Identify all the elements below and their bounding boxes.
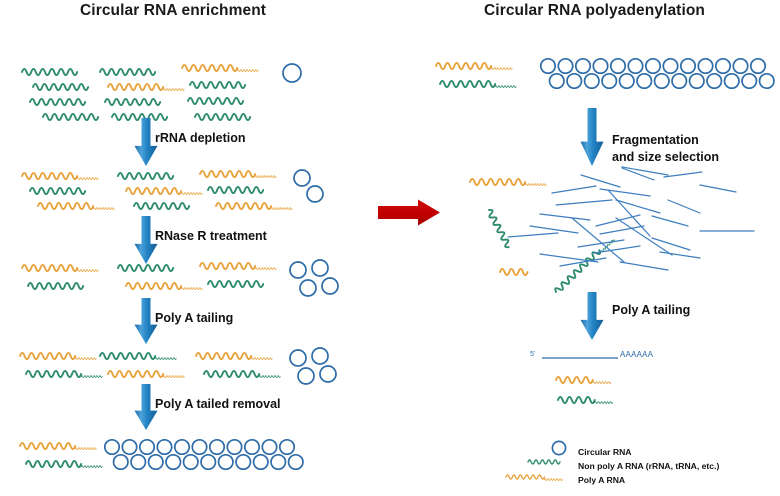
rna-body <box>118 173 173 179</box>
circular-rna-icon <box>620 74 634 88</box>
polya-tail <box>593 382 611 384</box>
polya-tail <box>237 70 258 72</box>
page-title-left: Circular RNA enrichment <box>80 2 266 20</box>
polya-tail <box>491 68 512 70</box>
rna-body <box>556 377 593 383</box>
rna-fragment <box>622 168 654 180</box>
circular-rna-icon <box>320 366 336 382</box>
polya-tail <box>525 184 546 186</box>
circular-rna-icon <box>707 74 721 88</box>
polya-rna-icon <box>500 269 528 275</box>
polya-rna-icon <box>470 179 546 186</box>
rna-fragment <box>530 226 578 233</box>
legend-label-circular-rna: Circular RNA <box>578 447 631 457</box>
polya-tail-label: AAAAAA <box>620 350 653 359</box>
diagram-graphics <box>0 0 780 496</box>
polya-tail <box>271 208 292 210</box>
rna-body <box>43 114 98 120</box>
rna-body <box>100 353 155 359</box>
rna-fragment <box>600 189 650 196</box>
rna-body <box>118 265 173 271</box>
rna-fragment <box>594 246 640 253</box>
polya-tail <box>595 402 613 404</box>
circular-rna-icon <box>322 278 338 294</box>
rna-body <box>436 63 491 69</box>
circular-rna-icon <box>280 440 294 454</box>
non-polya-rna-icon <box>188 98 243 104</box>
circular-rna-icon <box>290 350 306 366</box>
polya-rna-icon <box>200 263 276 270</box>
circular-rna-icon <box>552 441 565 454</box>
rna-body <box>33 84 88 90</box>
non-polya-rna-icon <box>190 82 245 88</box>
rna-body <box>182 65 237 71</box>
circular-rna-icon <box>184 455 198 469</box>
circular-rna-icon <box>290 262 306 278</box>
circular-rna-icon <box>611 59 625 73</box>
polya-tail <box>251 358 272 360</box>
polya-rna-icon <box>22 173 98 180</box>
circular-rna-icon <box>131 455 145 469</box>
rna-fragment <box>668 200 700 213</box>
rna-body <box>204 371 259 377</box>
rna-fragment <box>556 200 612 205</box>
rna-body <box>38 203 93 209</box>
rna-body <box>558 397 595 403</box>
circular-rna-icon <box>558 59 572 73</box>
polya-rna-icon <box>20 443 96 450</box>
circular-rna-icon <box>681 59 695 73</box>
legend-label-polya-rna: Poly A RNA <box>578 475 625 485</box>
circular-rna-icon <box>760 74 774 88</box>
circular-rna-icon <box>312 348 328 364</box>
rna-body <box>126 283 181 289</box>
rna-body <box>528 460 560 464</box>
rna-body <box>126 188 181 194</box>
non-polya-rna-icon <box>554 236 615 295</box>
non-polya-rna-icon <box>43 114 98 120</box>
rna-fragment <box>664 172 702 177</box>
rna-fragment <box>600 226 644 234</box>
non-polya-rna-icon <box>204 371 280 378</box>
non-polya-rna-icon <box>33 84 88 90</box>
rna-body <box>500 269 528 275</box>
non-polya-rna-icon <box>100 69 155 75</box>
polya-rna-icon <box>38 203 114 210</box>
non-polya-rna-icon <box>28 283 83 289</box>
rna-body <box>30 188 85 194</box>
rna-fragment <box>652 216 688 226</box>
polya-tail <box>155 358 176 360</box>
polya-tail <box>259 376 280 378</box>
polya-rna-icon <box>200 171 276 178</box>
rna-body <box>20 353 75 359</box>
rna-fragment <box>620 262 668 270</box>
polya-tail <box>255 268 276 270</box>
step-label-polya-tailing-left: Poly A tailing <box>155 311 233 326</box>
non-polya-rna-icon <box>26 371 102 378</box>
rna-body <box>554 248 601 294</box>
circular-rna-icon <box>283 64 301 82</box>
circular-rna-icon <box>140 440 154 454</box>
circular-rna-icon <box>628 59 642 73</box>
step-label-polya-tailed-removal: Poly A tailed removal <box>155 397 281 412</box>
polya-rna-icon <box>20 353 96 360</box>
polya-tail <box>77 178 98 180</box>
rna-body <box>108 84 163 90</box>
circular-rna-icon <box>307 186 323 202</box>
polya-rna-icon <box>22 265 98 272</box>
non-polya-rna-icon <box>105 99 160 105</box>
rna-fragment <box>560 258 606 266</box>
step-label-fragmentation-line2: and size selection <box>612 149 719 165</box>
diagram-canvas: Circular RNA enrichment Circular RNA pol… <box>0 0 780 496</box>
non-polya-rna-icon <box>195 114 250 120</box>
non-polya-rna-icon <box>208 281 263 287</box>
rna-body <box>506 475 544 479</box>
step-label-polya-tailing-right: Poly A tailing <box>612 303 690 318</box>
step-label-rnaser-treatment: RNase R treatment <box>155 229 267 244</box>
polya-rna-icon <box>196 353 272 360</box>
rna-body <box>20 443 75 449</box>
polya-tail <box>75 358 96 360</box>
non-polya-rna-icon <box>30 188 85 194</box>
rna-fragment <box>700 185 736 192</box>
non-polya-rna-icon <box>118 173 173 179</box>
rna-fragment <box>616 218 672 255</box>
circular-rna-icon <box>725 74 739 88</box>
rna-fragment <box>660 252 700 258</box>
circular-rna-icon <box>698 59 712 73</box>
non-polya-rna-icon <box>26 461 102 468</box>
circular-rna-icon <box>663 59 677 73</box>
circular-rna-icon <box>716 59 730 73</box>
circular-rna-icon <box>298 368 314 384</box>
non-polya-rna-icon <box>100 353 176 360</box>
step-label-rrna-depletion: rRNA depletion <box>155 131 246 146</box>
polya-tail <box>77 270 98 272</box>
step-label-fragmentation-line1: Fragmentation <box>612 132 699 148</box>
rna-body <box>108 371 163 377</box>
non-polya-rna-icon <box>487 209 512 249</box>
polya-rna-icon <box>556 377 611 384</box>
rna-body <box>200 263 255 269</box>
rna-fragment <box>578 240 624 247</box>
circular-rna-icon <box>690 74 704 88</box>
rna-body <box>105 99 160 105</box>
circular-rna-icon <box>733 59 747 73</box>
rna-fragment <box>608 190 650 236</box>
rna-body <box>26 461 81 467</box>
circular-rna-icon <box>585 74 599 88</box>
rna-body <box>196 353 251 359</box>
polya-tail <box>181 288 202 290</box>
polya-rna-icon <box>506 475 562 481</box>
polya-tail <box>163 89 184 91</box>
rna-body <box>30 99 85 105</box>
rna-body <box>28 283 83 289</box>
circular-rna-icon <box>289 455 303 469</box>
rna-body <box>22 69 77 75</box>
circular-rna-icon <box>637 74 651 88</box>
polya-rna-icon <box>126 283 202 290</box>
circular-rna-icon <box>227 440 241 454</box>
rna-fragment <box>540 254 598 262</box>
circular-rna-icon <box>602 74 616 88</box>
non-polya-rna-icon <box>440 81 516 88</box>
rna-body <box>208 281 263 287</box>
polya-tail <box>495 86 516 88</box>
circular-rna-icon <box>646 59 660 73</box>
rna-body <box>22 265 77 271</box>
non-polya-rna-icon <box>558 397 613 404</box>
rna-fragment <box>581 175 620 187</box>
non-polya-rna-icon <box>528 460 560 464</box>
rna-fragment <box>552 186 596 193</box>
circular-rna-icon <box>105 440 119 454</box>
circular-rna-icon <box>593 59 607 73</box>
rna-fragment <box>652 238 690 250</box>
circular-rna-icon <box>655 74 669 88</box>
rna-body <box>188 98 243 104</box>
process-arrow-down <box>581 292 604 340</box>
page-title-right: Circular RNA polyadenylation <box>484 2 705 20</box>
non-polya-rna-icon <box>118 265 173 271</box>
polya-tail <box>600 239 614 253</box>
rna-body <box>195 114 250 120</box>
circular-rna-icon <box>262 440 276 454</box>
polya-tail <box>163 376 184 378</box>
polya-tail <box>181 193 202 195</box>
rna-body <box>208 187 263 193</box>
circular-rna-icon <box>567 74 581 88</box>
polya-tail <box>93 208 114 210</box>
rna-body <box>26 371 81 377</box>
circular-rna-icon <box>166 455 180 469</box>
non-polya-rna-icon <box>30 99 85 105</box>
polya-tail <box>81 376 102 378</box>
rna-body <box>200 171 255 177</box>
circular-rna-icon <box>192 440 206 454</box>
rna-body <box>487 209 512 249</box>
circular-rna-icon <box>254 455 268 469</box>
circular-rna-icon <box>312 260 328 276</box>
non-polya-rna-icon <box>22 69 77 75</box>
circular-rna-icon <box>157 440 171 454</box>
circular-rna-icon <box>751 59 765 73</box>
rna-body <box>190 82 245 88</box>
circular-rna-icon <box>294 170 310 186</box>
circular-rna-icon <box>122 440 136 454</box>
polya-rna-icon <box>436 63 512 70</box>
non-polya-rna-icon <box>134 203 189 209</box>
polya-rna-icon <box>108 84 184 91</box>
rna-fragment <box>540 214 590 220</box>
polya-tail <box>544 479 562 481</box>
five-prime-label: 5' <box>530 351 535 358</box>
circular-rna-icon <box>245 440 259 454</box>
circular-rna-icon <box>210 440 224 454</box>
circular-rna-icon <box>149 455 163 469</box>
rna-fragment <box>596 215 640 226</box>
rna-fragment <box>572 218 624 262</box>
process-arrow-down <box>581 108 604 166</box>
non-polya-rna-icon <box>208 187 263 193</box>
polya-rna-icon <box>216 203 292 210</box>
rna-body <box>22 173 77 179</box>
polya-rna-icon <box>182 65 258 72</box>
polya-tail <box>255 176 276 178</box>
circular-rna-icon <box>742 74 756 88</box>
rna-body <box>470 179 525 185</box>
non-polya-rna-icon <box>112 114 167 120</box>
circular-rna-icon <box>576 59 590 73</box>
circular-rna-icon <box>219 455 233 469</box>
rna-fragment <box>616 200 660 213</box>
rna-fragment <box>508 233 558 237</box>
circular-rna-icon <box>550 74 564 88</box>
rna-body <box>112 114 167 120</box>
circular-rna-icon <box>236 455 250 469</box>
circular-rna-icon <box>672 74 686 88</box>
rna-body <box>216 203 271 209</box>
polya-rna-icon <box>126 188 202 195</box>
transfer-arrow-right <box>378 200 440 226</box>
rna-fragment <box>622 167 668 175</box>
circular-rna-icon <box>271 455 285 469</box>
rna-body <box>134 203 189 209</box>
circular-rna-icon <box>541 59 555 73</box>
circular-rna-icon <box>201 455 215 469</box>
polya-tail <box>75 448 96 450</box>
circular-rna-icon <box>175 440 189 454</box>
legend-label-non-polya-rna: Non poly A RNA (rRNA, tRNA, etc.) <box>578 461 719 471</box>
circular-rna-icon <box>300 280 316 296</box>
polya-rna-icon <box>108 371 184 378</box>
circular-rna-icon <box>114 455 128 469</box>
rna-body <box>440 81 495 87</box>
rna-body <box>100 69 155 75</box>
polya-tail <box>81 466 102 468</box>
